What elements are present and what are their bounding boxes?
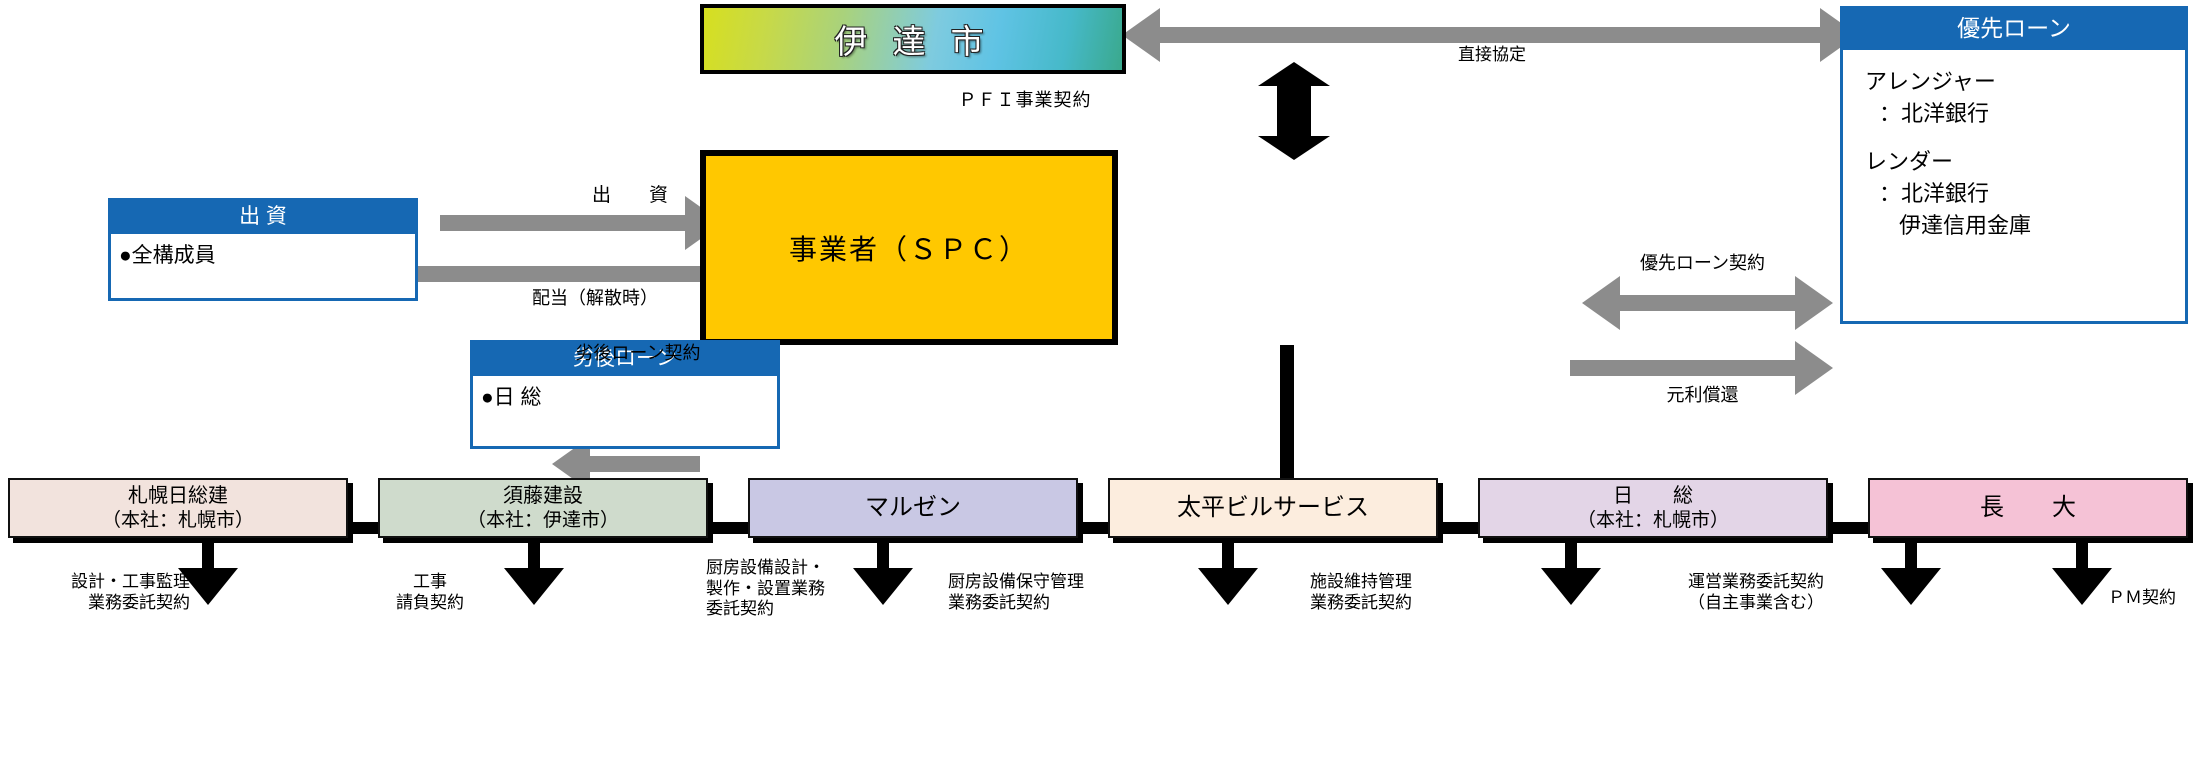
company-name-5: 長 大 [1980,493,2076,522]
company-name-0: 札幌日総建 [128,484,228,508]
city-banner-label: 伊 達 市 [834,15,991,63]
company-name-4: 日 総 [1613,484,1693,508]
contract-label-3: 厨房設備保守管理 業務委託契約 [948,572,1198,613]
contract-label-1: 工事 請負契約 [350,572,510,613]
arranger-value: ：北洋銀行 [1865,98,2185,130]
spc-box: 事業者（ＳＰＣ） [700,150,1118,345]
company-box-5: 長 大 [1868,478,2188,538]
label-pfi-contract: ＰＦＩ事業契約 [880,90,1170,112]
contract-label-2: 厨房設備設計・ 製作・設置業務 委託契約 [706,558,881,620]
company-sub-4: （本社：札幌市） [1577,509,1729,532]
subordinated-card-member: ●日 総 [473,376,777,446]
label-senior-loan-repay: 元利償還 [1570,385,1835,407]
arrow-senior-loan-contract [1582,276,1833,330]
company-box-0: 札幌日総建 （本社：札幌市） [8,478,348,538]
company-name-1: 須藤建設 [503,484,583,508]
label-senior-loan-contract: 優先ローン契約 [1570,253,1835,275]
company-name-3: 太平ビルサービス [1177,493,1369,522]
company-sub-0: （本社：札幌市） [102,509,254,532]
lender-value-2: 伊達信用金庫 [1865,210,2185,242]
arranger-label: アレンジャー [1865,66,2185,98]
equity-card-member: ●全構成員 [111,234,415,298]
lender-label: レンダー [1865,146,2185,178]
equity-card: 出 資 ●全構成員 [108,198,418,301]
city-banner: 伊 達 市 [700,4,1126,74]
contract-label-6: ＰＭ契約 [2108,588,2203,609]
pfi-scheme-diagram: 伊 達 市 事業者（ＳＰＣ） 出 資 ●全構成員 劣後ローン ●日 総 優先ロー… [0,0,2204,764]
spc-label: 事業者（ＳＰＣ） [789,228,1029,268]
arrow-pfi-contract [1258,62,1330,160]
company-box-1: 須藤建設 （本社：伊達市） [378,478,708,538]
label-dividend-back: 配当（解散時） [470,288,720,310]
company-name-2: マルゼン [865,493,961,522]
lender-value-1: ：北洋銀行 [1865,178,2185,210]
company-sub-1: （本社：伊達市） [467,509,619,532]
equity-card-header: 出 資 [111,201,415,234]
contract-label-4: 施設維持管理 業務委託契約 [1310,572,1530,613]
label-direct-agreement: 直接協定 [1392,45,1592,66]
label-equity-out: 出 資 [530,184,730,207]
company-box-2: マルゼン [748,478,1078,538]
contract-label-0: 設計・工事監理 業務委託契約 [0,572,190,613]
senior-loan-card-header: 優先ローン [1843,9,2185,50]
senior-loan-card: 優先ローン アレンジャー ：北洋銀行 レンダー ：北洋銀行 伊達信用金庫 [1840,6,2188,324]
label-sub-loan-contract: 劣後ローン契約 [528,343,748,365]
company-box-4: 日 総 （本社：札幌市） [1478,478,1828,538]
contract-label-5: 運営業務委託契約 （自主事業含む） [1688,572,1938,613]
company-box-3: 太平ビルサービス [1108,478,1438,538]
